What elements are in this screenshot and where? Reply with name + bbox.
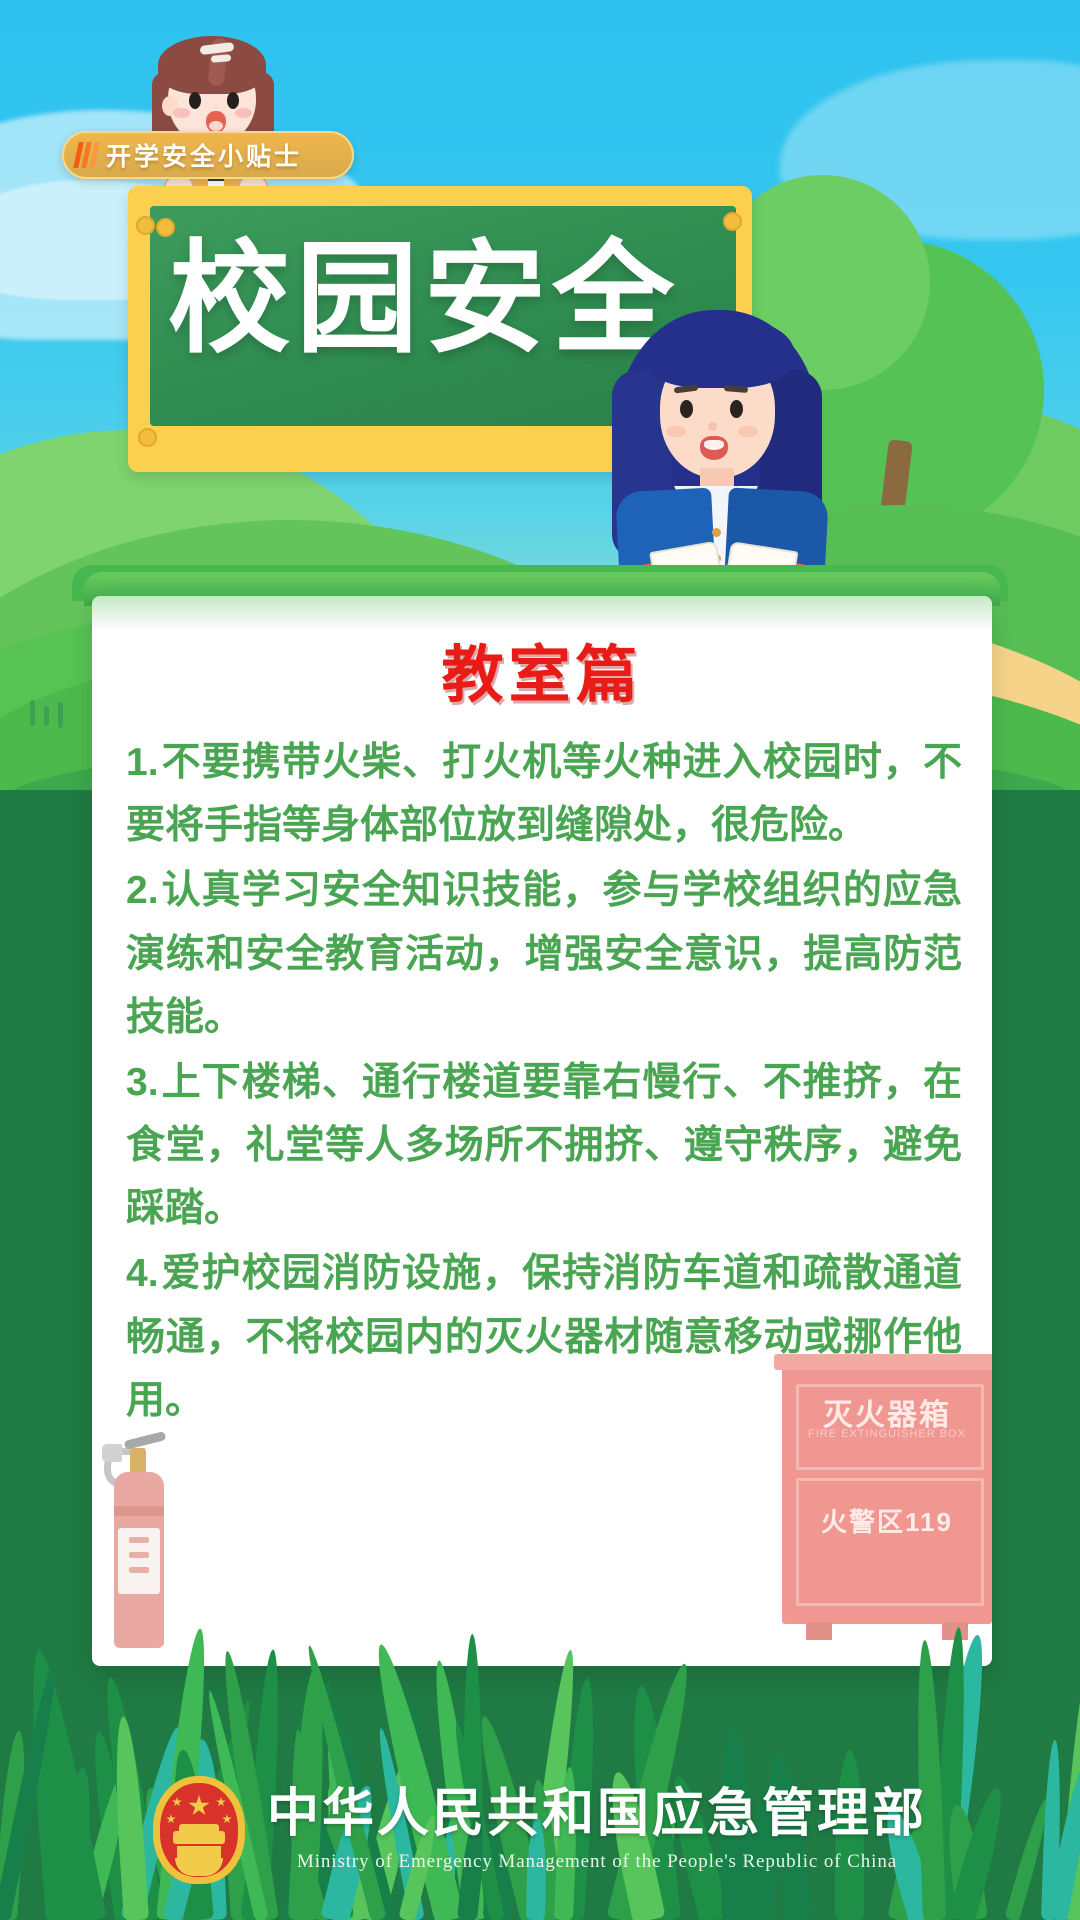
list-item-text: 认真学习安全知识技能，参与学校组织的应急演练和安全教育活动，增强安全意识，提高防…	[126, 869, 962, 1038]
grass-tuft-icon	[44, 706, 49, 726]
footer: 中华人民共和国应急管理部 Ministry of Emergency Manag…	[0, 1740, 1080, 1920]
tip-badge-label: 开学安全小贴士	[106, 137, 302, 173]
list-item-text: 上下楼梯、通行楼道要靠右慢行、不推挤，在食堂，礼堂等人多场所不拥挤、遵守秩序，避…	[126, 1061, 962, 1230]
china-national-emblem-icon	[153, 1776, 245, 1884]
ministry-name-en: Ministry of Emergency Management of the …	[267, 1851, 927, 1873]
cartoon-teacher-with-book-icon	[608, 300, 858, 600]
content-card: 灭火器箱 FIRE EXTINGUISHER BOX 火警区119 教室篇 1.…	[92, 596, 992, 1666]
list-item-number: 3.	[126, 1061, 159, 1104]
poster-root: 开学安全小贴士 校园安全	[0, 0, 1080, 1920]
grass-tuft-icon	[58, 702, 63, 728]
list-item-text: 不要携带火柴、打火机等火种进入校园时，不要将手指等身体部位放到缝隙处，很危险。	[126, 741, 962, 847]
footer-text-block: 中华人民共和国应急管理部 Ministry of Emergency Manag…	[267, 1787, 927, 1873]
three-bars-icon	[73, 142, 100, 168]
list-item-number: 4.	[126, 1252, 159, 1295]
screw-icon	[136, 216, 155, 235]
safety-tips-list: 1.不要携带火柴、打火机等火种进入校园时，不要将手指等身体部位放到缝隙处，很危险…	[126, 731, 962, 1434]
list-item: 2.认真学习安全知识技能，参与学校组织的应急演练和安全教育活动，增强安全意识，提…	[126, 859, 962, 1049]
fire-extinguisher-icon	[102, 1408, 176, 1648]
cabinet-label-alarm: 火警区119	[782, 1502, 992, 1539]
grass-tuft-icon	[30, 700, 35, 726]
list-item-number: 2.	[126, 869, 159, 912]
list-item: 3.上下楼梯、通行楼道要靠右慢行、不推挤，在食堂，礼堂等人多场所不拥挤、遵守秩序…	[126, 1051, 962, 1241]
list-item: 1.不要携带火柴、打火机等火种进入校园时，不要将手指等身体部位放到缝隙处，很危险…	[126, 731, 962, 857]
poster-main-title: 校园安全	[168, 238, 680, 360]
screw-icon	[138, 428, 157, 447]
section-title: 教室篇	[92, 624, 992, 714]
tip-badge[interactable]: 开学安全小贴士	[62, 131, 354, 179]
list-item: 4.爱护校园消防设施，保持消防车道和疏散通道畅通，不将校园内的灭火器材随意移动或…	[126, 1242, 962, 1432]
screw-icon	[723, 212, 742, 231]
list-item-text: 爱护校园消防设施，保持消防车道和疏散通道畅通，不将校园内的灭火器材随意移动或挪作…	[126, 1252, 962, 1421]
ministry-name-cn: 中华人民共和国应急管理部	[267, 1787, 927, 1842]
list-item-number: 1.	[126, 741, 159, 784]
